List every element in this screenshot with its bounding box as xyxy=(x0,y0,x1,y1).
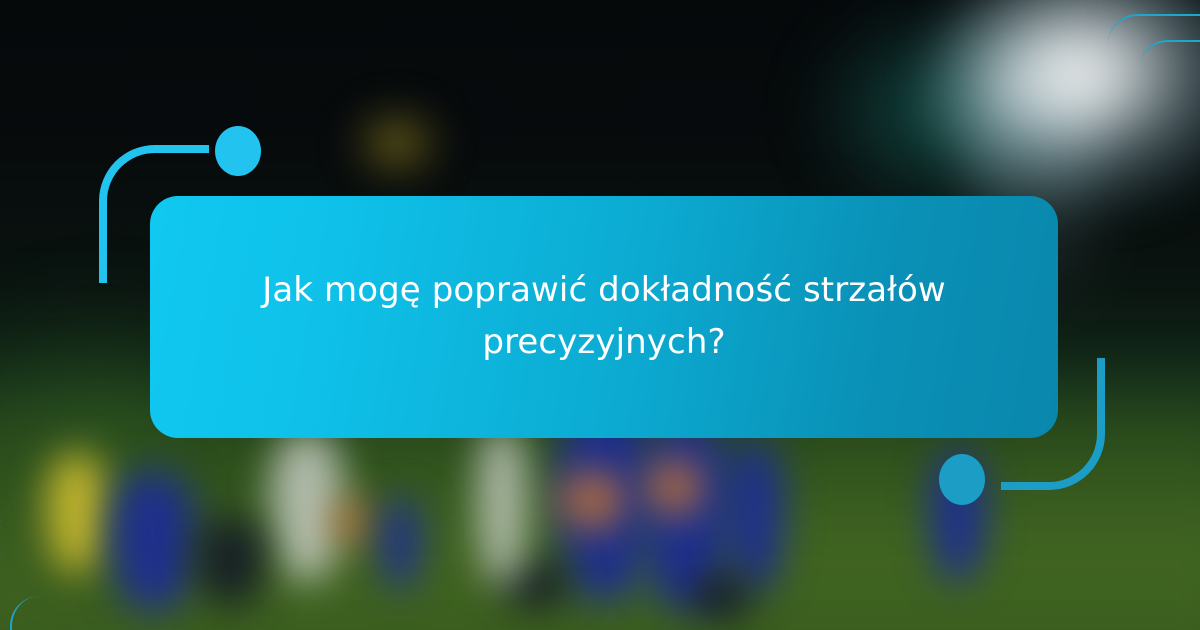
accent-dot-top-left-icon xyxy=(215,126,261,176)
blurred-player xyxy=(330,500,374,544)
blurred-player xyxy=(110,470,196,610)
blurred-player xyxy=(270,430,344,580)
question-card: Jak mogę poprawić dokładność strzałów pr… xyxy=(150,196,1058,438)
blurred-player xyxy=(46,452,108,572)
blurred-player xyxy=(644,458,706,516)
blurred-player xyxy=(196,516,266,606)
accent-dot-bottom-right-icon xyxy=(939,454,985,505)
blurred-player xyxy=(726,440,784,590)
secondary-light-glow xyxy=(352,108,442,178)
blurred-player xyxy=(690,574,752,620)
blurred-player xyxy=(380,498,420,588)
blurred-player xyxy=(556,470,630,530)
blurred-player xyxy=(478,424,526,584)
social-card-canvas: Jak mogę poprawić dokładność strzałów pr… xyxy=(0,0,1200,630)
question-text: Jak mogę poprawić dokładność strzałów pr… xyxy=(208,265,1000,368)
